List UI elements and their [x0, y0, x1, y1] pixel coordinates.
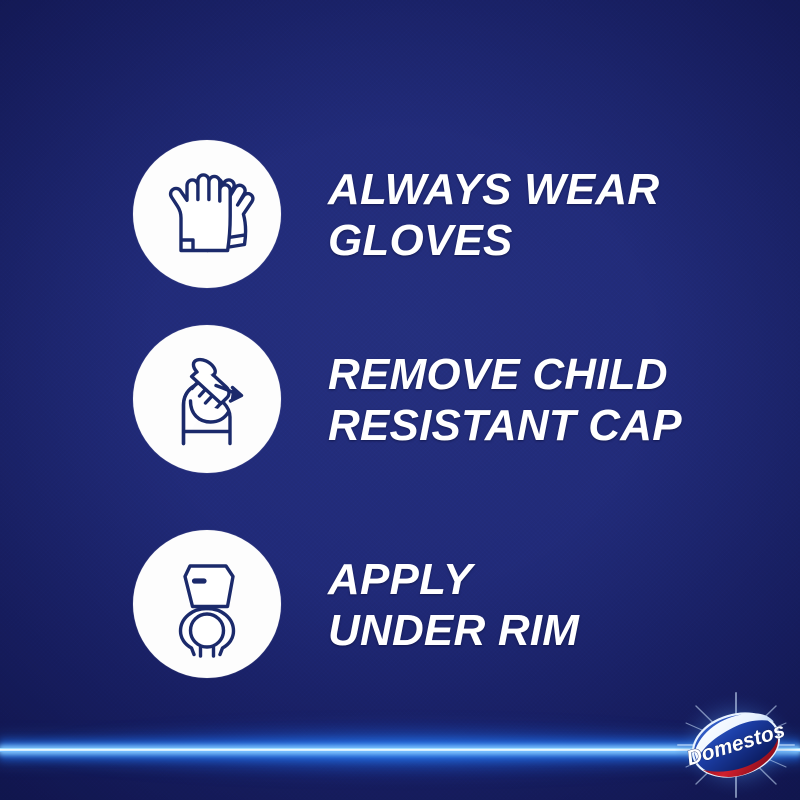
child-resistant-cap-icon	[147, 339, 267, 459]
domestos-logo: Domestos	[672, 690, 800, 800]
product-instruction-poster: ALWAYS WEAR GLOVES	[0, 0, 800, 800]
gloves-icon	[147, 154, 267, 274]
instruction-step-row: APPLY UNDER RIM	[0, 530, 800, 680]
instruction-step-label: REMOVE CHILD RESISTANT CAP	[328, 349, 682, 451]
instruction-step-row: REMOVE CHILD RESISTANT CAP	[0, 325, 800, 475]
instruction-step-row: ALWAYS WEAR GLOVES	[0, 140, 800, 290]
icon-badge	[133, 325, 281, 473]
toilet-icon	[147, 544, 267, 664]
instruction-step-label: ALWAYS WEAR GLOVES	[328, 164, 800, 266]
icon-badge	[133, 530, 281, 678]
icon-badge	[133, 140, 281, 288]
instruction-step-label: APPLY UNDER RIM	[328, 554, 579, 656]
